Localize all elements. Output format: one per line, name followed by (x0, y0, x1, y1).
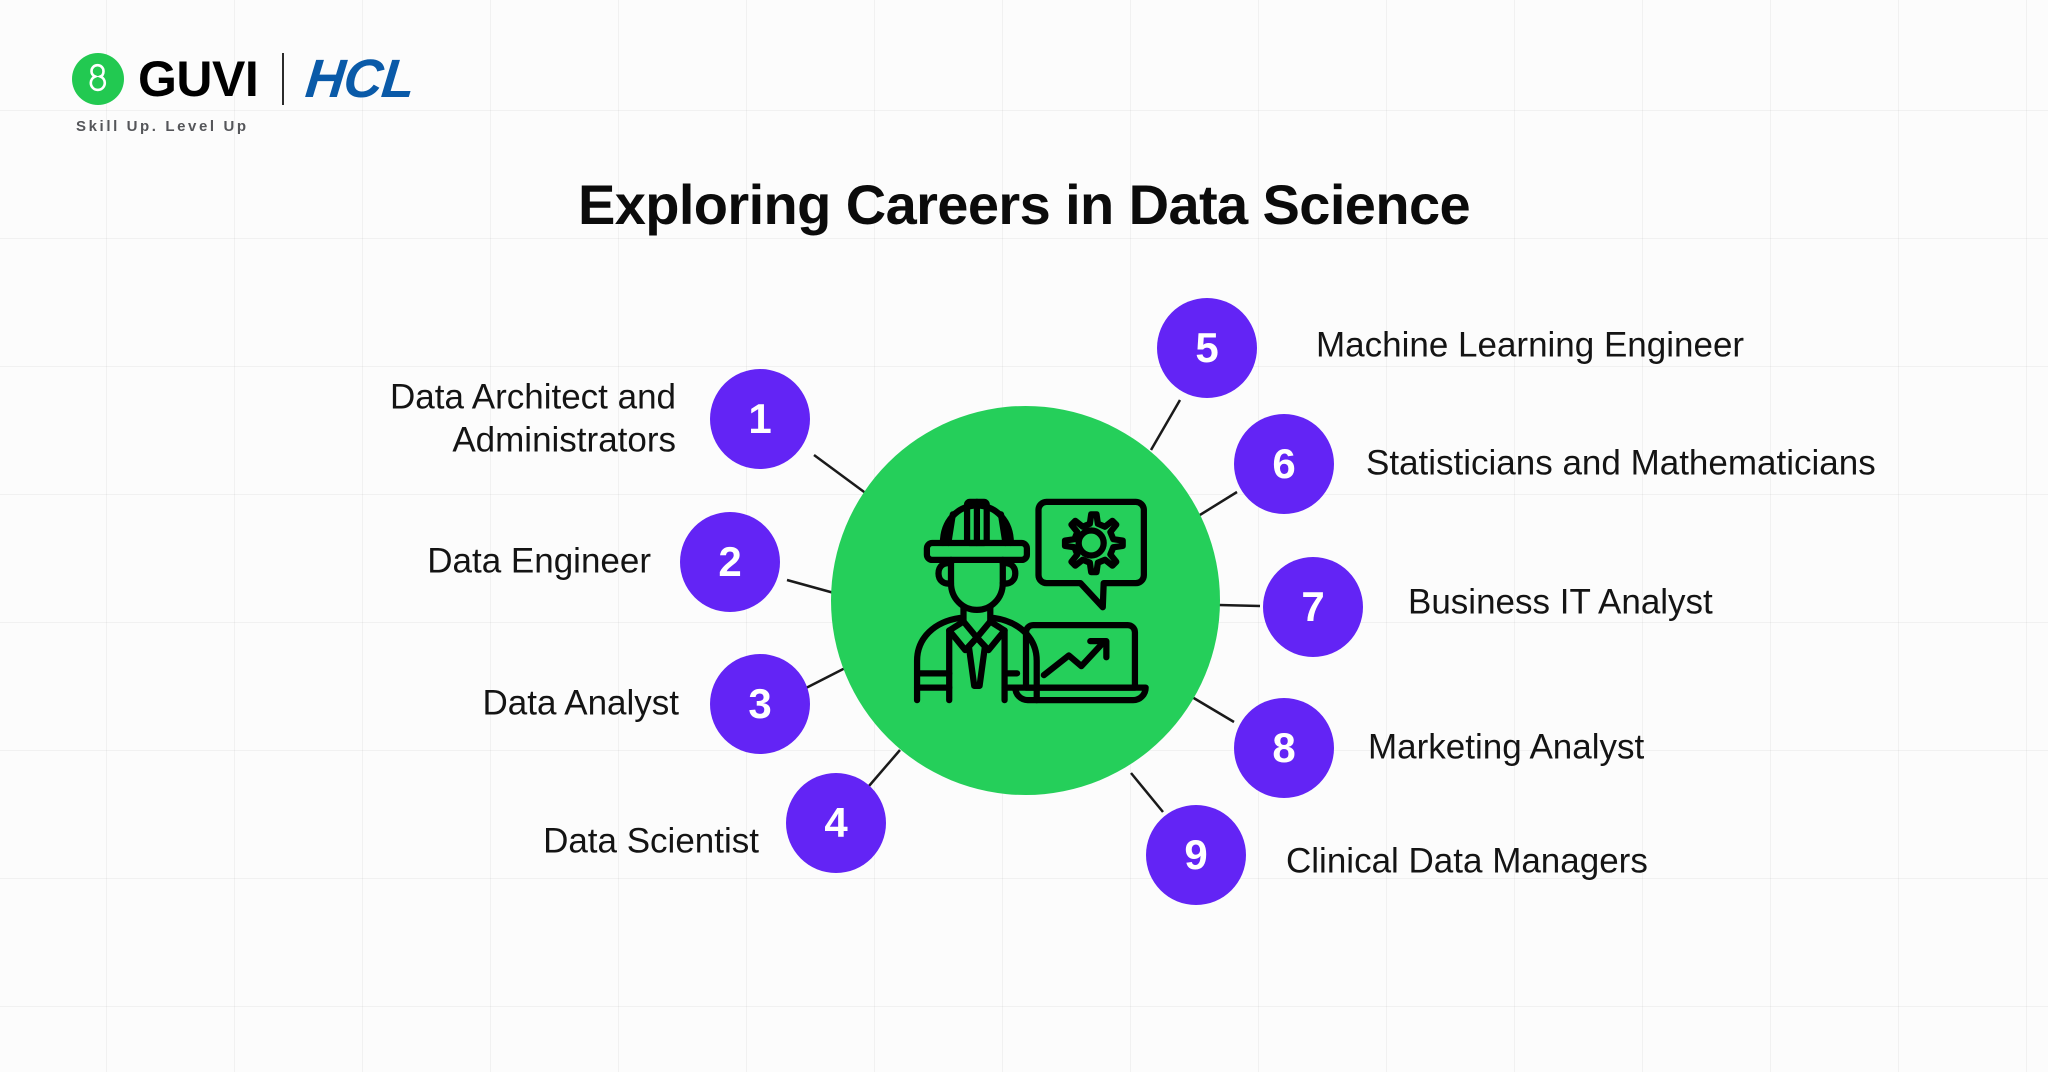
node-circle-3[interactable]: 3 (710, 654, 810, 754)
node-circle-6[interactable]: 6 (1234, 414, 1334, 514)
node-circle-1[interactable]: 1 (710, 369, 810, 469)
careers-hub-diagram: 1Data Architect and Administrators2Data … (0, 0, 2048, 1072)
node-circle-5[interactable]: 5 (1157, 298, 1257, 398)
connector-line-5 (1151, 400, 1180, 450)
node-label-7: Business IT Analyst (1408, 582, 1713, 625)
node-label-8: Marketing Analyst (1368, 727, 1644, 770)
node-circle-8[interactable]: 8 (1234, 698, 1334, 798)
node-label-3: Data Analyst (483, 683, 680, 726)
node-label-2: Data Engineer (427, 541, 651, 584)
connector-line-4 (869, 750, 900, 786)
infographic-canvas: GUVI HCL Skill Up. Level Up Exploring Ca… (0, 0, 2048, 1072)
node-label-6: Statisticians and Mathematicians (1366, 443, 1876, 486)
node-label-9: Clinical Data Managers (1286, 841, 1648, 884)
hub-circle (831, 406, 1220, 795)
connector-line-9 (1131, 773, 1163, 812)
node-circle-4[interactable]: 4 (786, 773, 886, 873)
connector-line-7 (1219, 605, 1260, 606)
node-label-5: Machine Learning Engineer (1316, 325, 1744, 368)
node-circle-7[interactable]: 7 (1263, 557, 1363, 657)
node-circle-9[interactable]: 9 (1146, 805, 1246, 905)
engineer-with-laptop-and-gear-icon (901, 486, 1151, 716)
node-label-1: Data Architect and Administrators (390, 376, 676, 461)
node-circle-2[interactable]: 2 (680, 512, 780, 612)
node-label-4: Data Scientist (543, 821, 759, 864)
connector-line-8 (1192, 697, 1234, 722)
connector-line-6 (1195, 492, 1237, 518)
